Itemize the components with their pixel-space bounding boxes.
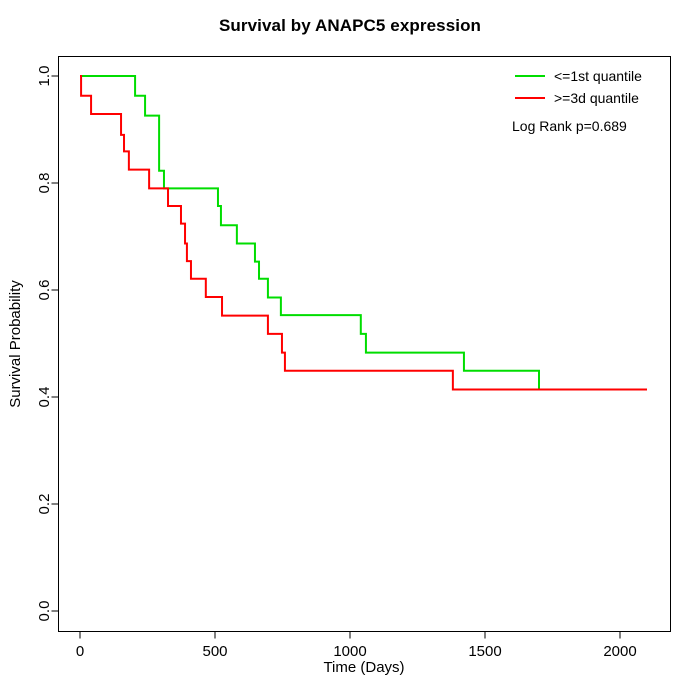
x-axis-title: Time (Days) bbox=[323, 659, 404, 676]
x-tick-label: 1500 bbox=[468, 643, 501, 660]
y-tick-label: 0.2 bbox=[36, 494, 53, 515]
kaplan-meier-chart: 0500100015002000 0.00.20.40.60.81.0 Time… bbox=[0, 0, 700, 700]
survival-plot-figure: Survival by ANAPC5 expression 0500100015… bbox=[0, 0, 700, 700]
y-tick-label: 0.0 bbox=[36, 601, 53, 622]
x-tick-label: 1000 bbox=[333, 643, 366, 660]
plot-frame bbox=[59, 57, 671, 632]
y-tick-label: 0.6 bbox=[36, 280, 53, 301]
x-axis-ticks: 0500100015002000 bbox=[76, 632, 637, 661]
legend-label-first-quantile: <=1st quantile bbox=[554, 68, 642, 84]
log-rank-annotation: Log Rank p=0.689 bbox=[512, 118, 627, 134]
x-tick-label: 0 bbox=[76, 643, 84, 660]
y-tick-label: 0.8 bbox=[36, 173, 53, 194]
legend-label-third-quantile: >=3d quantile bbox=[554, 90, 639, 106]
y-tick-label: 0.4 bbox=[36, 387, 53, 408]
y-axis-ticks: 0.00.20.40.60.81.0 bbox=[36, 66, 59, 622]
y-tick-label: 1.0 bbox=[36, 66, 53, 87]
x-tick-label: 500 bbox=[202, 643, 227, 660]
legend: <=1st quantile >=3d quantile bbox=[515, 68, 642, 106]
y-axis-title: Survival Probability bbox=[7, 280, 24, 408]
x-tick-label: 2000 bbox=[603, 643, 636, 660]
